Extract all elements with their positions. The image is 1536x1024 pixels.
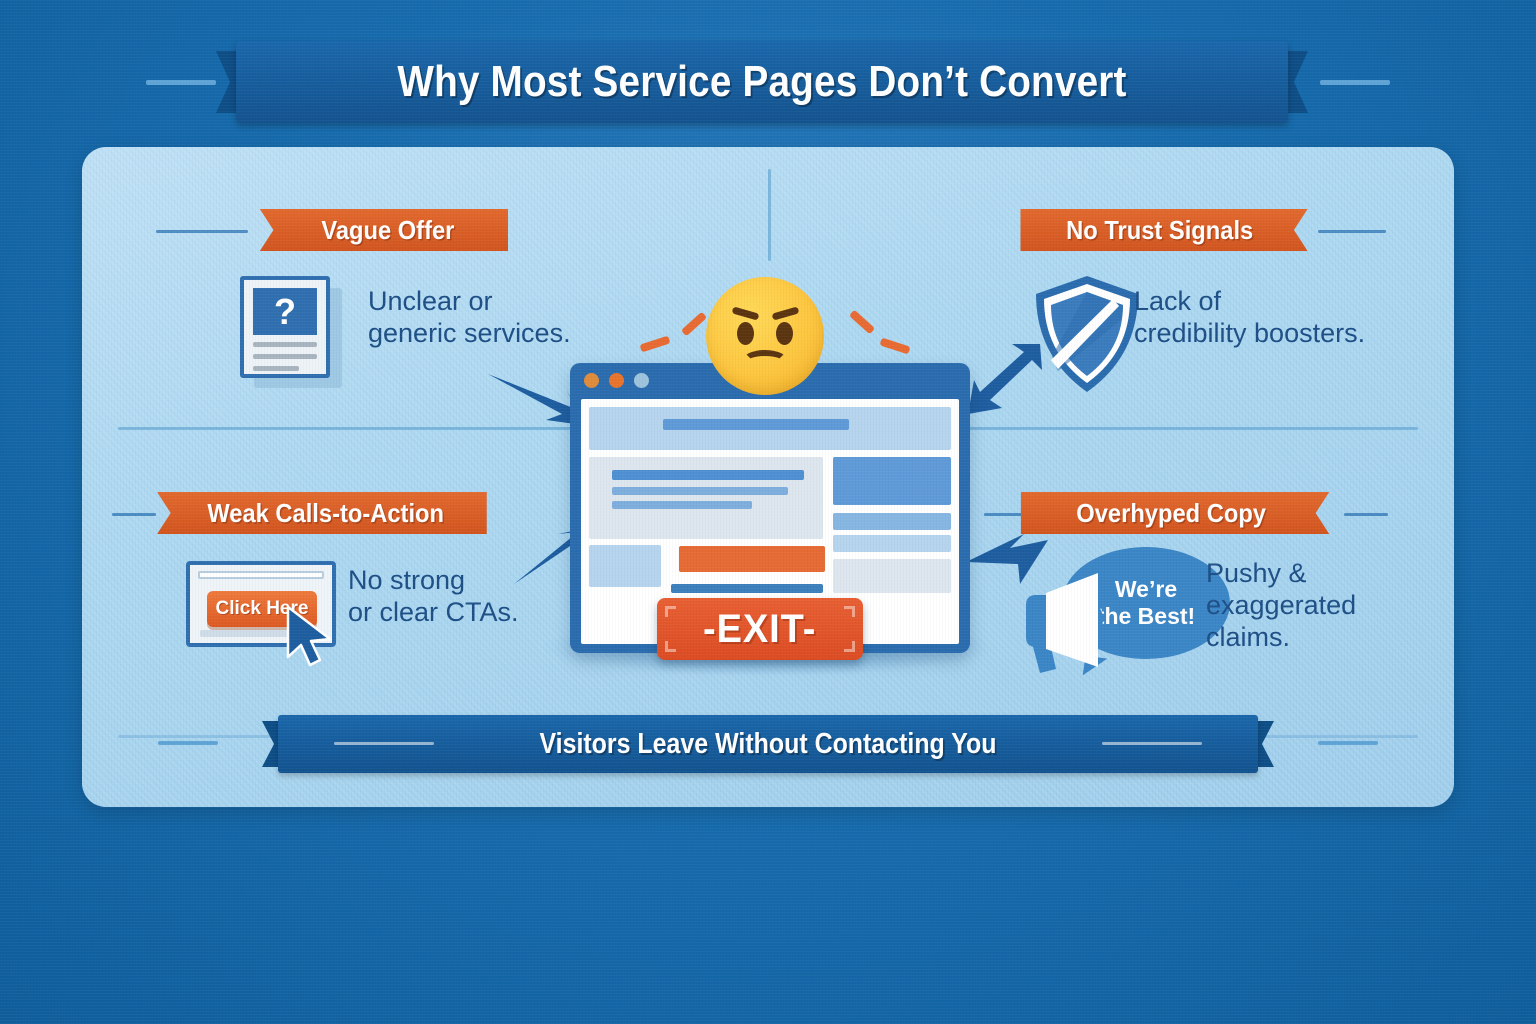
emoji-brow-right [772,306,800,320]
no-trust-signals-description: Lack of credibility boosters. [1134,286,1394,350]
wireframe-text-line [612,470,804,480]
ribbon-overhyped-copy: Overhyped Copy [1021,492,1329,534]
ribbon-weak-calls-to-action: Weak Calls-to-Action [157,492,487,534]
wireframe-sidebar-line [833,535,951,552]
wireframe-text-line [612,501,752,509]
browser-dot-1 [584,373,599,388]
footer-dash-left [158,741,218,745]
exit-corner [665,606,676,617]
connector-line-bottom-left [112,513,156,516]
wireframe-sidebar-line [833,513,951,530]
document-line [253,342,317,347]
wireframe-text-line [612,487,788,495]
sad-face-emoji [706,277,824,395]
document-card: ? [240,276,330,378]
title-dash-left [146,80,216,85]
title-dash-right [1320,80,1390,85]
arrow-top-right-double [962,338,1052,422]
ribbon-weak-calls-to-action-label: Weak Calls-to-Action [208,498,445,529]
document-question-icon: ? [240,276,350,394]
exit-corner [844,606,855,617]
ribbon-vague-offer-label: Vague Offer [321,215,454,246]
connector-line-top-right [1318,230,1386,233]
ribbon-no-trust-signals-label: No Trust Signals [1067,215,1254,246]
browser-cta-icon: Click Here [186,561,346,657]
exit-corner [844,641,855,652]
wireframe-lower-right [833,559,951,593]
exit-label: -EXIT- [703,607,816,652]
ribbon-no-trust-signals: No Trust Signals [1020,209,1307,251]
browser-dot-3 [634,373,649,388]
wireframe-hero-title [663,419,849,430]
footer-inner-dash-left [334,742,434,745]
wireframe-lower-left [589,545,661,587]
exit-corner [665,641,676,652]
document-line [253,366,299,371]
browser-dot-2 [609,373,624,388]
document-line [253,354,317,359]
speech-bubble-line1: We’re [1115,576,1177,603]
footer-dash-right [1318,741,1378,745]
vague-offer-description: Unclear or generic services. [368,286,598,350]
cta-browser-addressbar [198,571,324,579]
wireframe-bottom-line [671,584,823,593]
footer-text: Visitors Leave Without Contacting You [333,715,1203,773]
cursor-arrow-icon [282,605,344,671]
connector-line-bottom-right [1344,513,1388,516]
exit-sign: -EXIT- [657,598,863,660]
question-mark-icon: ? [253,288,317,335]
ribbon-overhyped-copy-label: Overhyped Copy [1076,498,1266,529]
footer-inner-dash-right [1102,742,1202,745]
emoji-eye-right [776,322,793,345]
page-title: Why Most Service Pages Don’t Convert [282,41,1243,123]
divider-horizontal-right [948,427,1418,430]
wireframe-sidebar-block [833,457,951,505]
emoji-mouth [742,350,788,372]
ribbon-vague-offer: Vague Offer [260,209,508,251]
overhyped-copy-description: Pushy & exaggerated claims. [1206,558,1446,654]
emoji-eye-left [737,322,754,345]
wireframe-cta-block [679,546,825,572]
divider-vertical-top [768,169,771,261]
connector-line-top-left [156,230,248,233]
emoji-brow-left [732,306,760,320]
title-banner: Why Most Service Pages Don’t Convert [216,41,1308,123]
arrow-bottom-right [962,532,1050,590]
